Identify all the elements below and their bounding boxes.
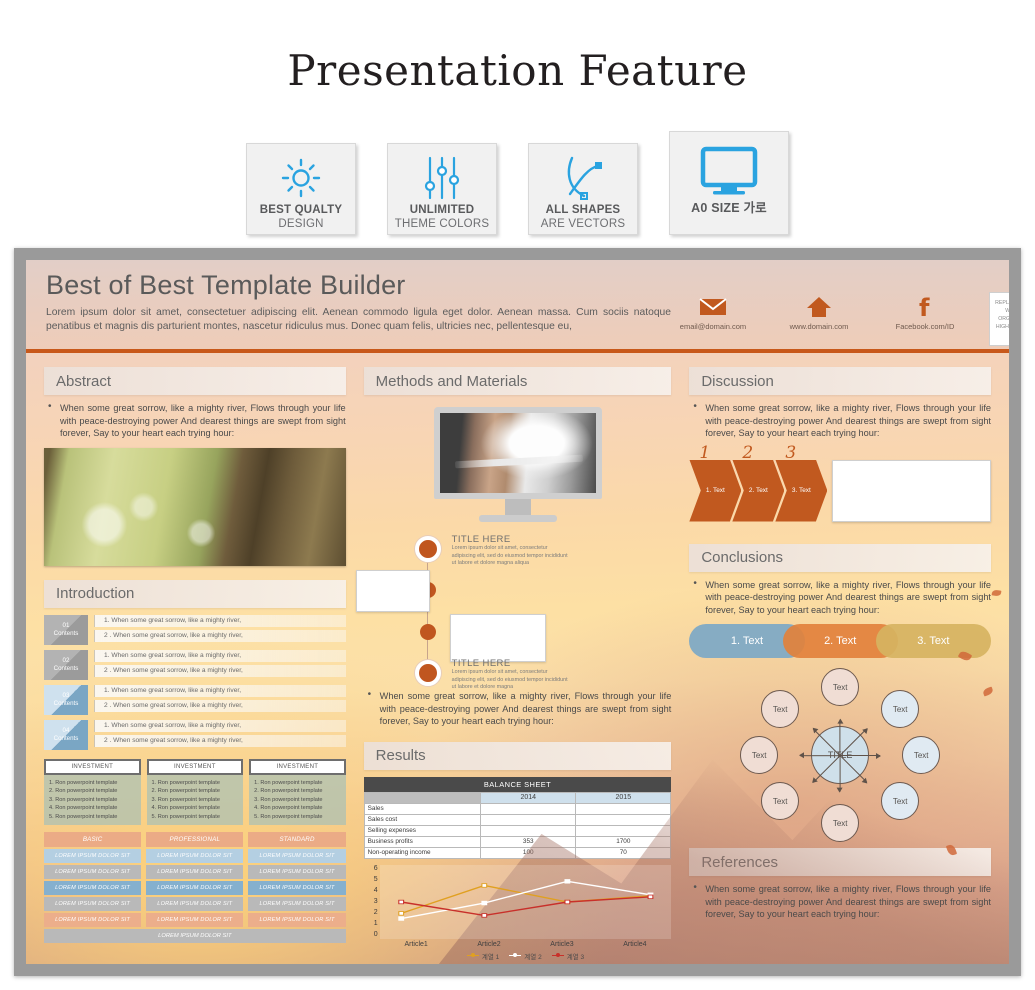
home-icon (777, 292, 861, 322)
abstract-body: When some great sorrow, like a mighty ri… (44, 402, 346, 440)
investment-item: 1. Ron powerpoint template (254, 779, 341, 788)
table-cell (576, 803, 671, 814)
vector-curve-icon (562, 152, 604, 204)
table-cell (481, 825, 576, 836)
investment-card[interactable]: INVESTMENT 1. Ron powerpoint template 2.… (147, 759, 244, 826)
pill-step-3[interactable]: 3. Text (876, 624, 991, 658)
table-cell (576, 814, 671, 825)
pricing-cell: LOREM IPSUM DOLOR SIT (146, 913, 243, 927)
abstract-photo (44, 448, 346, 566)
table-cell (481, 814, 576, 825)
investment-card[interactable]: INVESTMENT 1. Ron powerpoint template 2.… (249, 759, 346, 826)
timeline-marker[interactable] (415, 660, 441, 686)
table-cell: 70 (576, 847, 671, 858)
table-row: 2014 2015 (364, 792, 671, 803)
section-title-references: References (689, 848, 991, 876)
balance-sheet-title: BALANCE SHEET (364, 777, 672, 792)
table-cell: Sales (364, 803, 481, 814)
discussion-image-box (832, 460, 991, 522)
conclusions-body: When some great sorrow, like a mighty ri… (689, 579, 991, 617)
feature-label-line1: ALL SHAPES (546, 204, 621, 217)
table-header-cell: 2014 (481, 792, 576, 803)
logo-placeholder: REPLACE THIS BOX WITH YOUR ORGANIZATION'… (989, 292, 1009, 346)
investment-header: INVESTMENT (249, 759, 346, 775)
y-tick: 6 (364, 865, 378, 872)
timeline-marker[interactable] (420, 624, 436, 640)
table-row: Sales (364, 803, 671, 814)
table-cell (481, 803, 576, 814)
feature-label-line1: BEST QUALTY (260, 204, 343, 217)
pricing-cell: LOREM IPSUM DOLOR SIT (248, 897, 345, 911)
table-row: Non-operating income 100 70 (364, 847, 671, 858)
pricing-footer: LOREM IPSUM DOLOR SIT (44, 929, 346, 943)
section-title-discussion: Discussion (689, 367, 991, 395)
methods-body: When some great sorrow, like a mighty ri… (364, 690, 672, 728)
pricing-cell: LOREM IPSUM DOLOR SIT (146, 849, 243, 863)
contact-list: email@domain.com www.domain.com f Facebo… (671, 270, 1009, 349)
poster-frame: Best of Best Template Builder Lorem ipsu… (14, 248, 1021, 976)
poster-title: Best of Best Template Builder (46, 270, 671, 301)
pricing-cell: LOREM IPSUM DOLOR SIT (44, 897, 141, 911)
poster: Best of Best Template Builder Lorem ipsu… (26, 260, 1009, 964)
pricing-cell: LOREM IPSUM DOLOR SIT (248, 913, 345, 927)
pricing-cell: LOREM IPSUM DOLOR SIT (146, 865, 243, 879)
radial-satellite-s[interactable]: Text (821, 804, 859, 842)
pricing-cell: LOREM IPSUM DOLOR SIT (146, 881, 243, 895)
y-tick: 5 (364, 876, 378, 883)
legend-label: 계열 3 (567, 951, 584, 961)
intro-chip: 04 Contents (44, 720, 88, 750)
intro-chip: 01 Contents (44, 615, 88, 645)
x-tick: Article2 (453, 941, 526, 948)
table-header-cell (364, 792, 481, 803)
radial-satellite-n[interactable]: Text (821, 668, 859, 706)
x-tick: Article4 (598, 941, 671, 948)
feature-badge-row: BEST QUALTY DESIGN UNLIMITED THEME COLOR… (0, 110, 1035, 235)
investment-item: 4. Ron powerpoint template (49, 804, 136, 813)
poster-subtitle: Lorem ipsum dolor sit amet, consectetuer… (46, 306, 671, 334)
pricing-header: BASIC (44, 832, 141, 847)
balance-sheet-table: BALANCE SHEET 2014 2015 Sales (364, 777, 672, 859)
radial-arrow (800, 755, 840, 756)
investment-item: 4. Ron powerpoint template (152, 804, 239, 813)
radial-satellite-w[interactable]: Text (740, 736, 778, 774)
table-row: LOREM IPSUM DOLOR SIT LOREM IPSUM DOLOR … (44, 897, 346, 911)
conclusions-pills: 1. Text 2. Text 3. Text (689, 624, 991, 658)
sliders-icon (420, 152, 464, 204)
table-cell: 1700 (576, 836, 671, 847)
table-row: Sales cost (364, 814, 671, 825)
table-row: LOREM IPSUM DOLOR SIT LOREM IPSUM DOLOR … (44, 849, 346, 863)
timeline-desc: Lorem ipsum dolor sit amet, consectetur … (452, 669, 570, 692)
investment-header: INVESTMENT (44, 759, 141, 775)
radial-diagram: TITLE Text Text Text Text Text Text Text… (689, 664, 991, 846)
table-row: Selling expenses (364, 825, 671, 836)
poster-header: Best of Best Template Builder Lorem ipsu… (26, 260, 1009, 353)
section-title-introduction: Introduction (44, 580, 346, 608)
intro-line: 1. When some great sorrow, like a mighty… (94, 650, 346, 662)
table-cell: Selling expenses (364, 825, 481, 836)
x-tick: Article1 (380, 941, 453, 948)
investment-item: 5. Ron powerpoint template (254, 813, 341, 822)
pricing-cell: LOREM IPSUM DOLOR SIT (44, 881, 141, 895)
pricing-cell: LOREM IPSUM DOLOR SIT (44, 849, 141, 863)
pricing-cell: LOREM IPSUM DOLOR SIT (248, 881, 345, 895)
table-cell: Business profits (364, 836, 481, 847)
introduction-rows: 01 Contents 1. When some great sorrow, l… (44, 615, 346, 750)
legend-label: 계열 1 (482, 951, 499, 961)
feature-label-line2: DESIGN (278, 217, 323, 231)
page-title: Presentation Feature (0, 0, 1035, 110)
table-cell: 353 (481, 836, 576, 847)
pricing-cell: LOREM IPSUM DOLOR SIT (146, 897, 243, 911)
investment-header: INVESTMENT (147, 759, 244, 775)
investment-item: 2. Ron powerpoint template (254, 787, 341, 796)
radial-arrow (840, 720, 841, 756)
investment-item: 2. Ron powerpoint template (49, 787, 136, 796)
radial-satellite-nw[interactable]: Text (761, 690, 799, 728)
feature-label-line1: UNLIMITED (410, 204, 474, 217)
intro-chip: 03 Contents (44, 685, 88, 715)
pricing-cell: LOREM IPSUM DOLOR SIT (248, 849, 345, 863)
radial-arrow (840, 756, 841, 792)
intro-line: 1. When some great sorrow, like a mighty… (94, 685, 346, 697)
table-row: LOREM IPSUM DOLOR SIT LOREM IPSUM DOLOR … (44, 865, 346, 879)
investment-item: 3. Ron powerpoint template (49, 796, 136, 805)
table-cell: Sales cost (364, 814, 481, 825)
monitor-base (479, 515, 557, 522)
timeline-title: TITLE HERE (452, 534, 570, 545)
investment-item: 1. Ron powerpoint template (152, 779, 239, 788)
y-tick: 1 (364, 920, 378, 927)
feature-badge-best-quality[interactable]: BEST QUALTY DESIGN (246, 143, 356, 235)
list-item[interactable]: 01 Contents 1. When some great sorrow, l… (44, 615, 346, 645)
mail-icon (671, 292, 755, 322)
x-tick: Article3 (526, 941, 599, 948)
section-title-methods: Methods and Materials (364, 367, 672, 395)
chart-x-axis: Article1 Article2 Article3 Article4 (380, 941, 672, 948)
chip-number: 04 (63, 727, 70, 735)
intro-line: 2 . When some great sorrow, like a might… (94, 700, 346, 712)
intro-chip: 02 Contents (44, 650, 88, 680)
chart-plot-area (380, 865, 672, 939)
investment-item: 5. Ron powerpoint template (152, 813, 239, 822)
legend-entry: 계열 3 (552, 951, 584, 961)
chip-word: Contents (54, 735, 79, 743)
feature-badge-unlimited-colors[interactable]: UNLIMITED THEME COLORS (387, 143, 497, 235)
radial-satellite-ne[interactable]: Text (881, 690, 919, 728)
timeline-image-box (356, 570, 430, 612)
timeline: TITLE HERE Lorem ipsum dolor sit amet, c… (364, 536, 672, 686)
investment-item: 5. Ron powerpoint template (49, 813, 136, 822)
radial-satellite-e[interactable]: Text (902, 736, 940, 774)
y-tick: 2 (364, 909, 378, 916)
pricing-header: PROFESSIONAL (146, 832, 243, 847)
section-title-results: Results (364, 742, 672, 770)
radial-satellite-se[interactable]: Text (881, 782, 919, 820)
column-middle: Methods and Materials TITLE HERE Lorem i… (364, 367, 672, 964)
table-row: BASIC PROFESSIONAL STANDARD (44, 832, 346, 847)
legend-swatch (509, 955, 521, 957)
contact-label: email@domain.com (671, 322, 755, 331)
discussion-process: 1 1. Text 2 2. Text 3 3. Text (689, 458, 991, 522)
chip-number: 02 (63, 657, 70, 665)
legend-swatch (467, 955, 479, 957)
monitor-mockup (434, 407, 602, 522)
timeline-title: TITLE HERE (452, 658, 570, 669)
chevron-step[interactable]: 3 3. Text (775, 460, 827, 522)
pricing-header: STANDARD (248, 832, 345, 847)
pricing-cell: LOREM IPSUM DOLOR SIT (44, 865, 141, 879)
chip-number: 03 (63, 692, 70, 700)
table-cell: Non-operating income (364, 847, 481, 858)
legend-entry: 계열 2 (509, 951, 541, 961)
pricing-table: BASIC PROFESSIONAL STANDARD LOREM IPSUM … (44, 832, 346, 943)
feature-label-line2: THEME COLORS (395, 217, 489, 231)
chart-legend: 계열 1 계열 2 계열 3 (380, 951, 672, 961)
feature-badge-all-shapes[interactable]: ALL SHAPES ARE VECTORS (528, 143, 638, 235)
investment-item: 2. Ron powerpoint template (152, 787, 239, 796)
feature-label-line1: A0 SIZE 가로 (691, 202, 767, 215)
monitor-neck (505, 499, 531, 515)
contact-label: www.domain.com (777, 322, 861, 331)
contact-facebook[interactable]: f Facebook.com/ID (883, 292, 967, 331)
chevron-label: 2. Text (749, 487, 768, 494)
column-right: Discussion When some great sorrow, like … (689, 367, 991, 964)
column-left: Abstract When some great sorrow, like a … (44, 367, 346, 964)
chevron-label: 3. Text (792, 487, 811, 494)
y-tick: 3 (364, 898, 378, 905)
legend-entry: 계열 1 (467, 951, 499, 961)
contact-email[interactable]: email@domain.com (671, 292, 755, 331)
radial-satellite-sw[interactable]: Text (761, 782, 799, 820)
table-cell (576, 825, 671, 836)
intro-line: 2 . When some great sorrow, like a might… (94, 665, 346, 677)
intro-line: 1. When some great sorrow, like a mighty… (94, 720, 346, 732)
chevron-label: 1. Text (706, 487, 725, 494)
intro-line: 1. When some great sorrow, like a mighty… (94, 615, 346, 627)
list-item[interactable]: 04 Contents 1. When some great sorrow, l… (44, 720, 346, 750)
table-row: Business profits 353 1700 (364, 836, 671, 847)
pricing-cell: LOREM IPSUM DOLOR SIT (44, 913, 141, 927)
investment-item: 3. Ron powerpoint template (152, 796, 239, 805)
chart-y-axis: 6 5 4 3 2 1 0 (364, 865, 378, 939)
timeline-desc: Lorem ipsum dolor sit amet, consectetur … (452, 545, 570, 568)
pricing-cell: LOREM IPSUM DOLOR SIT (248, 865, 345, 879)
chip-number: 01 (63, 622, 70, 630)
legend-swatch (552, 955, 564, 957)
table-cell: 100 (481, 847, 576, 858)
svg-text:f: f (919, 294, 930, 320)
chip-word: Contents (54, 700, 79, 708)
list-item[interactable]: 02 Contents 1. When some great sorrow, l… (44, 650, 346, 680)
feature-label-line2: ARE VECTORS (541, 217, 625, 231)
timeline-image-box (450, 614, 546, 662)
investment-item: 1. Ron powerpoint template (49, 779, 136, 788)
references-body: When some great sorrow, like a mighty ri… (689, 883, 991, 921)
monitor-screen-image (440, 413, 596, 493)
y-tick: 0 (364, 931, 378, 938)
timeline-marker[interactable] (415, 536, 441, 562)
chip-word: Contents (54, 665, 79, 673)
investment-table-group: INVESTMENT 1. Ron powerpoint template 2.… (44, 759, 346, 826)
table-row: LOREM IPSUM DOLOR SIT LOREM IPSUM DOLOR … (44, 881, 346, 895)
poster-columns: Abstract When some great sorrow, like a … (26, 353, 1009, 964)
investment-card[interactable]: INVESTMENT 1. Ron powerpoint template 2.… (44, 759, 141, 826)
monitor-icon (699, 140, 759, 202)
investment-item: 3. Ron powerpoint template (254, 796, 341, 805)
table-row: LOREM IPSUM DOLOR SIT LOREM IPSUM DOLOR … (44, 913, 346, 927)
list-item[interactable]: 03 Contents 1. When some great sorrow, l… (44, 685, 346, 715)
feature-badge-a0-size[interactable]: A0 SIZE 가로 (669, 131, 789, 235)
intro-line: 2 . When some great sorrow, like a might… (94, 630, 346, 642)
discussion-body: When some great sorrow, like a mighty ri… (689, 402, 991, 440)
results-line-chart: 6 5 4 3 2 1 0 Article1 Article2 Article3… (364, 865, 672, 965)
legend-label: 계열 2 (524, 951, 541, 961)
chip-word: Contents (54, 630, 79, 638)
facebook-icon: f (883, 292, 967, 322)
section-title-conclusions: Conclusions (689, 544, 991, 572)
section-title-abstract: Abstract (44, 367, 346, 395)
radial-arrow (840, 755, 880, 756)
chevron-shape: 3. Text (775, 460, 827, 522)
contact-website[interactable]: www.domain.com (777, 292, 861, 331)
chevron-group: 1 1. Text 2 2. Text 3 3. Text (689, 460, 818, 522)
table-header-cell: 2015 (576, 792, 671, 803)
contact-label: Facebook.com/ID (883, 322, 967, 331)
intro-line: 2 . When some great sorrow, like a might… (94, 735, 346, 747)
sun-icon (280, 152, 322, 204)
investment-item: 4. Ron powerpoint template (254, 804, 341, 813)
y-tick: 4 (364, 887, 378, 894)
